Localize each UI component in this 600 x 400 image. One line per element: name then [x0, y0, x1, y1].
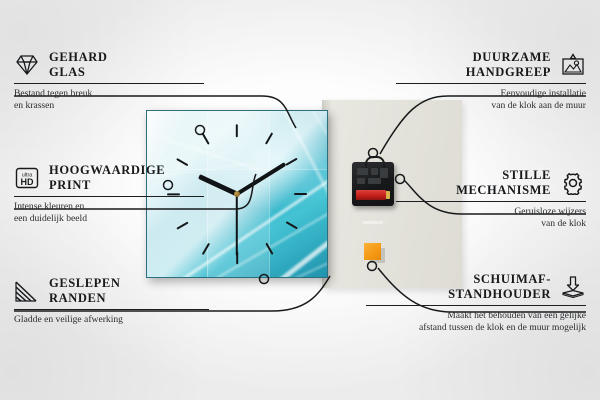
mechanism-detail [371, 168, 378, 175]
ultra-hd-large-text: HD [21, 177, 34, 187]
glass-pane-line [207, 111, 208, 277]
feature-divider [14, 196, 204, 197]
infographic-canvas: GEHARD GLAS Bestand tegen breuk en krass… [0, 0, 600, 400]
mechanism-detail [357, 168, 368, 175]
feature-description: Gladde en veilige afwerking [14, 314, 209, 326]
clock-hour-marker [286, 221, 298, 230]
feature-title: DUURZAME HANDGREEP [466, 50, 551, 79]
clock-center-cap [234, 191, 240, 197]
diamond-icon [14, 53, 40, 77]
battery-terminal [386, 191, 390, 199]
feature-description: Intense kleuren en een duidelijk beeld [14, 201, 204, 224]
mechanism-detail [380, 168, 388, 178]
feature-callout-hoogwaardige-print[interactable]: ultra HD HOOGWAARDIGE PRINT Intense kleu… [14, 163, 204, 224]
feature-divider [396, 83, 586, 84]
clock-mechanism [352, 162, 394, 206]
feature-callout-stille-mechanisme[interactable]: STILLE MECHANISME Geruisloze wijzers van… [396, 168, 586, 229]
feature-title: GEHARD GLAS [49, 50, 107, 79]
feature-divider [366, 305, 586, 306]
feature-divider [14, 83, 204, 84]
feature-description: Bestand tegen breuk en krassen [14, 88, 204, 111]
feature-title: STILLE MECHANISME [456, 168, 551, 197]
foam-spacer [364, 243, 381, 260]
feature-title: SCHUIMAF- STANDHOUDER [448, 272, 551, 301]
feature-title: HOOGWAARDIGE PRINT [49, 163, 165, 192]
ultra-hd-icon: ultra HD [14, 166, 40, 190]
press-down-icon [560, 275, 586, 299]
feature-description: Maakt het behouden van een gelijke afsta… [366, 310, 586, 333]
clock-second-hand [236, 194, 238, 256]
beveled-edge-icon [14, 279, 40, 303]
feature-divider [396, 201, 586, 202]
feature-title: GESLEPEN RANDEN [49, 276, 121, 305]
feature-description: Eenvoudige installatie van de klok aan d… [396, 88, 586, 111]
mechanism-detail [368, 178, 381, 184]
battery-label [363, 221, 383, 224]
feature-description: Geruisloze wijzers van de klok [396, 206, 586, 229]
mechanism-detail [357, 178, 365, 184]
picture-hanger-icon [560, 53, 586, 77]
battery [356, 190, 386, 200]
feature-divider [14, 309, 209, 310]
feature-callout-geslepen-randen[interactable]: GESLEPEN RANDEN Gladde en veilige afwerk… [14, 276, 209, 326]
feature-callout-duurzame-handgreep[interactable]: DUURZAME HANDGREEP Eenvoudige installati… [396, 50, 586, 111]
feature-callout-schuimafstandhouder[interactable]: SCHUIMAF- STANDHOUDER Maakt het behouden… [366, 272, 586, 333]
mechanism-hanging-loop [365, 156, 385, 168]
feature-callout-gehard-glas[interactable]: GEHARD GLAS Bestand tegen breuk en krass… [14, 50, 204, 111]
gear-icon [560, 171, 586, 195]
